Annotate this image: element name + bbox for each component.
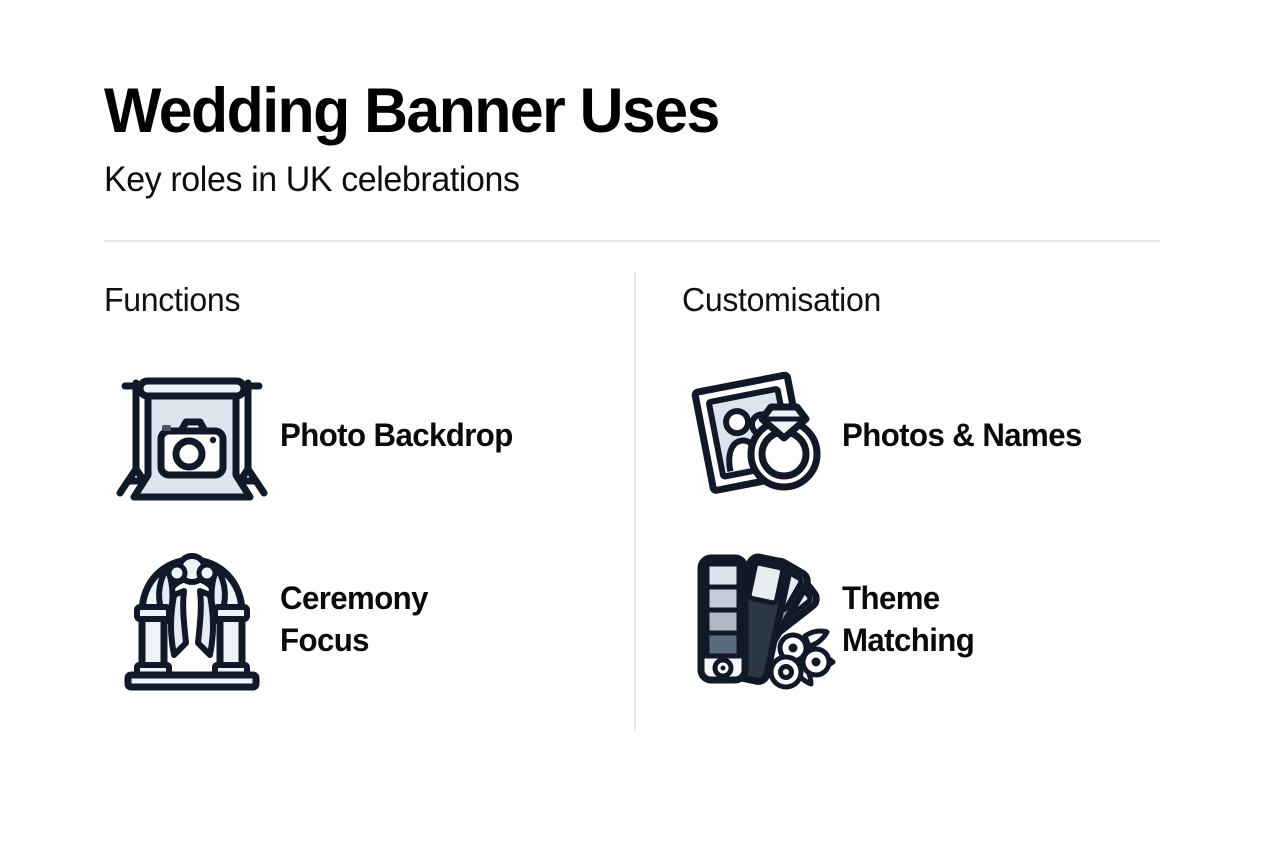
list-item-label: Photo Backdrop bbox=[280, 414, 513, 457]
photo-backdrop-icon bbox=[104, 360, 280, 510]
wedding-arch-icon-svg bbox=[112, 539, 272, 699]
header: Wedding Banner Uses Key roles in UK cele… bbox=[104, 0, 1160, 242]
column-customisation: Customisation bbox=[632, 283, 1160, 694]
column-heading-functions: Functions bbox=[104, 283, 616, 316]
list-item-label: Theme Matching bbox=[842, 577, 974, 662]
infographic-page: Wedding Banner Uses Key roles in UK cele… bbox=[0, 0, 1264, 848]
list-item: Ceremony Focus bbox=[104, 544, 632, 694]
column-functions: Functions bbox=[104, 283, 632, 694]
page-title: Wedding Banner Uses bbox=[104, 78, 1123, 145]
list-item: Photos & Names bbox=[682, 360, 1160, 510]
colour-swatch-flowers-icon-svg bbox=[687, 544, 837, 694]
page-subtitle: Key roles in UK celebrations bbox=[104, 161, 1128, 200]
colour-swatch-flowers-icon bbox=[682, 544, 842, 694]
column-divider bbox=[634, 273, 636, 731]
photo-frame-ring-icon bbox=[682, 360, 842, 510]
list-item-label: Photos & Names bbox=[842, 414, 1082, 457]
wedding-arch-icon bbox=[104, 544, 280, 694]
column-heading-customisation: Customisation bbox=[682, 283, 1146, 316]
list-item-label: Ceremony Focus bbox=[280, 577, 428, 662]
photo-frame-ring-icon-svg bbox=[687, 365, 837, 505]
header-divider bbox=[104, 240, 1160, 242]
list-item: Theme Matching bbox=[682, 544, 1160, 694]
columns-container: Functions bbox=[104, 283, 1160, 694]
list-item: Photo Backdrop bbox=[104, 360, 632, 510]
photo-backdrop-icon-svg bbox=[112, 365, 272, 505]
